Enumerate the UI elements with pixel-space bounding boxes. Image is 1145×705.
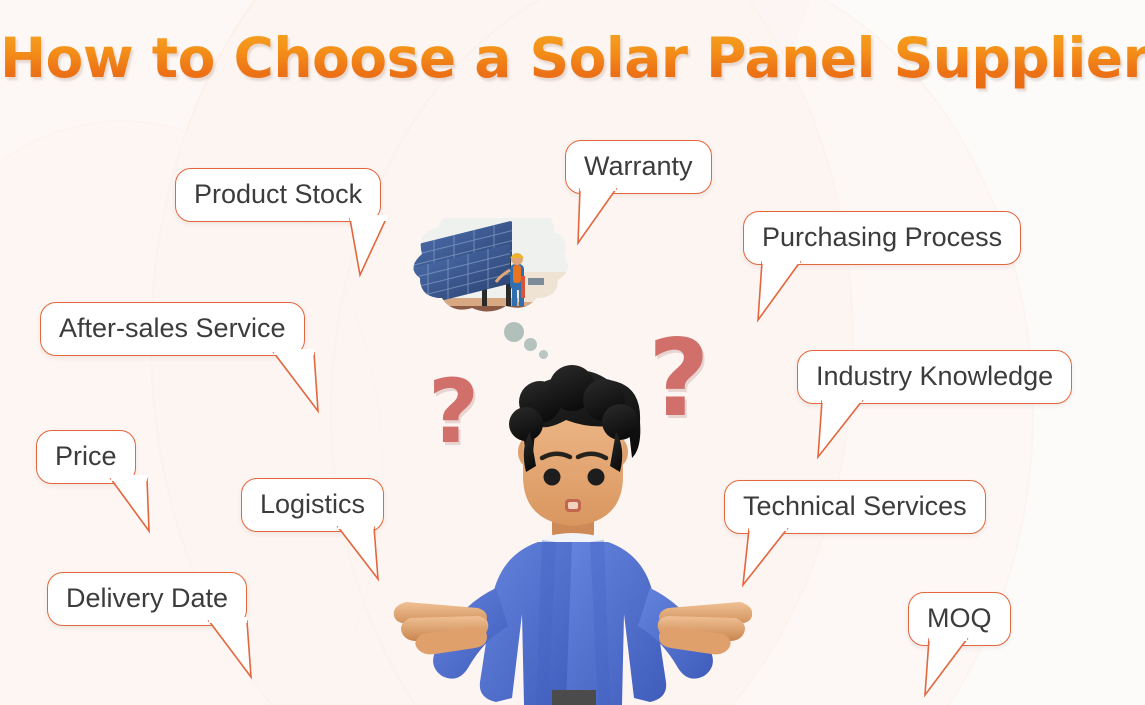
left-hand <box>394 602 489 654</box>
bubble-label-industry-knowledge: Industry Knowledge <box>816 361 1053 391</box>
bubble-label-moq: MOQ <box>927 603 992 633</box>
bubble-logistics[interactable]: Logistics <box>241 478 384 532</box>
bubble-technical-services[interactable]: Technical Services <box>724 480 986 534</box>
bubble-warranty[interactable]: Warranty <box>565 140 712 194</box>
bubble-label-warranty: Warranty <box>584 151 693 181</box>
bubble-label-technical-services: Technical Services <box>743 491 967 521</box>
infographic-canvas: How to Choose a Solar Panel Supplier <box>0 0 1145 705</box>
bubble-product-stock[interactable]: Product Stock <box>175 168 381 222</box>
thought-dot-2 <box>524 338 537 351</box>
bubble-purchasing-process[interactable]: Purchasing Process <box>743 211 1021 265</box>
thought-cloud-solar-panel <box>378 218 576 338</box>
character-illustration <box>392 360 752 705</box>
bubble-label-price: Price <box>55 441 117 471</box>
bubble-after-sales-service[interactable]: After-sales Service <box>40 302 305 356</box>
bubble-label-logistics: Logistics <box>260 489 365 519</box>
bubble-label-product-stock: Product Stock <box>194 179 362 209</box>
bubble-label-after-sales-service: After-sales Service <box>59 313 286 343</box>
bubble-moq[interactable]: MOQ <box>908 592 1011 646</box>
bubble-industry-knowledge[interactable]: Industry Knowledge <box>797 350 1072 404</box>
bubble-delivery-date[interactable]: Delivery Date <box>47 572 247 626</box>
thought-dot-3 <box>539 350 548 359</box>
right-hand <box>658 602 752 654</box>
bubble-label-purchasing-process: Purchasing Process <box>762 222 1002 252</box>
bubble-price[interactable]: Price <box>36 430 136 484</box>
bubble-label-delivery-date: Delivery Date <box>66 583 228 613</box>
thought-dot-1 <box>504 322 524 342</box>
page-title: How to Choose a Solar Panel Supplier <box>0 26 1145 90</box>
